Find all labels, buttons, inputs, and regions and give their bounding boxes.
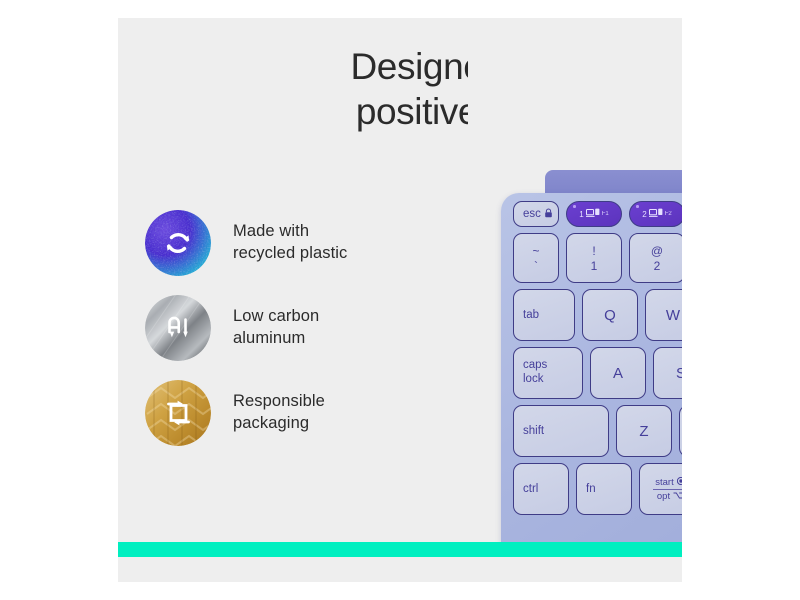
key-f2-number: 2	[642, 210, 646, 219]
key-fn[interactable]: fn	[576, 463, 632, 515]
keyboard-body: esc 1	[501, 193, 682, 557]
key-f1-indicator	[573, 205, 576, 208]
key-tilde-bottom: `	[534, 259, 538, 274]
key-caps-lock-label: caps lock	[523, 359, 547, 387]
key-q-label: Q	[604, 307, 616, 324]
key-1-top: !	[592, 244, 595, 259]
key-esc-label: esc	[523, 208, 541, 220]
recycled-plastic-badge-icon	[145, 210, 211, 276]
key-f1[interactable]: 1 F1	[566, 201, 622, 227]
device-icon	[586, 208, 600, 220]
key-2-bottom: 2	[654, 259, 661, 274]
key-a-label: A	[613, 365, 623, 382]
key-2[interactable]: @ 2	[629, 233, 682, 283]
key-2-top: @	[651, 244, 663, 259]
key-f1-sublabel: F1	[602, 211, 609, 217]
key-tab[interactable]: tab	[513, 289, 575, 341]
windows-dot-icon	[677, 477, 682, 488]
feature-label-recycled-plastic: Made with recycled plastic	[233, 221, 347, 265]
accent-bar	[118, 542, 682, 557]
key-tab-label: tab	[523, 309, 539, 321]
key-tilde-top: ~	[532, 244, 539, 259]
lock-icon	[544, 208, 553, 221]
key-f2-indicator	[636, 205, 639, 208]
key-shift[interactable]: shift	[513, 405, 609, 457]
key-ctrl[interactable]: ctrl	[513, 463, 569, 515]
option-icon	[673, 491, 682, 502]
key-start-row: start	[655, 477, 682, 488]
feature-label-low-carbon-aluminum: Low carbon aluminum	[233, 306, 319, 350]
key-1-bottom: 1	[591, 259, 598, 274]
keyboard-keys: esc 1	[501, 193, 682, 557]
key-a[interactable]: A	[590, 347, 646, 399]
key-x[interactable]: X	[679, 405, 682, 457]
screenshot-root: Designed for a positive future	[0, 0, 800, 600]
key-1[interactable]: ! 1	[566, 233, 622, 283]
feature-list: Made with recycled plastic	[145, 200, 475, 455]
key-caps-lock[interactable]: caps lock	[513, 347, 583, 399]
wireless-keyboard-photo: esc 1	[468, 18, 682, 557]
key-start-opt[interactable]: start opt	[639, 463, 682, 515]
key-z-label: Z	[639, 423, 648, 440]
key-z[interactable]: Z	[616, 405, 672, 457]
key-fn-label: fn	[586, 483, 596, 495]
key-opt-row: opt	[657, 491, 682, 502]
content-panel: Designed for a positive future	[118, 18, 682, 582]
device-icon	[649, 208, 663, 220]
key-opt-label: opt	[657, 491, 670, 502]
key-s-label: S	[676, 365, 682, 382]
key-w[interactable]: W	[645, 289, 682, 341]
key-start-label: start	[655, 477, 673, 488]
key-s[interactable]: S	[653, 347, 682, 399]
key-tilde[interactable]: ~ `	[513, 233, 559, 283]
responsible-packaging-badge-icon	[145, 380, 211, 446]
key-f1-number: 1	[579, 210, 583, 219]
feature-item-responsible-packaging: Responsible packaging	[145, 370, 475, 455]
feature-item-recycled-plastic: Made with recycled plastic	[145, 200, 475, 285]
key-ctrl-label: ctrl	[523, 483, 538, 495]
low-carbon-aluminum-badge-icon	[145, 295, 211, 361]
key-split-divider	[653, 489, 682, 490]
key-w-label: W	[666, 307, 680, 324]
key-f2[interactable]: 2 F2	[629, 201, 682, 227]
key-q[interactable]: Q	[582, 289, 638, 341]
key-shift-label: shift	[523, 425, 544, 437]
feature-item-low-carbon-aluminum: Low carbon aluminum	[145, 285, 475, 370]
feature-label-responsible-packaging: Responsible packaging	[233, 391, 325, 435]
key-f2-sublabel: F2	[665, 211, 672, 217]
key-esc[interactable]: esc	[513, 201, 559, 227]
